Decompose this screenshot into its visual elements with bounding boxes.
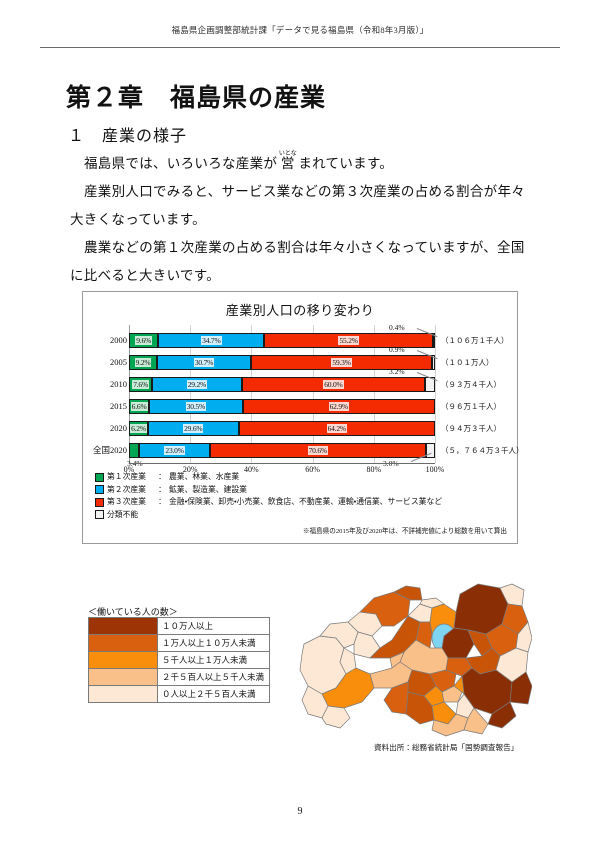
map-legend-label: ０人以上２千５百人未満 bbox=[158, 686, 269, 702]
legend-label: 分類不能 bbox=[107, 509, 155, 522]
legend-description: 鉱業、製造業、建設業 bbox=[169, 484, 247, 497]
chart-value-label: 62.9% bbox=[329, 402, 349, 411]
map-legend-swatch bbox=[89, 635, 158, 651]
map-legend-swatch bbox=[89, 669, 158, 685]
chart-legend-item: 第１次産業：農業、林業、水産業 bbox=[95, 471, 442, 484]
chart-row-total: （１０６万１千人） bbox=[441, 333, 509, 348]
paragraph-1-post: まれています。 bbox=[295, 156, 394, 171]
chart-row-total: （９３万４千人） bbox=[441, 377, 501, 392]
chart-legend-item: 第２次産業：鉱業、製造業、建設業 bbox=[95, 484, 442, 497]
chart-value-label: 64.2% bbox=[327, 424, 347, 433]
legend-label: 第３次産業 bbox=[107, 496, 155, 509]
legend-description: 農業、林業、水産業 bbox=[169, 471, 239, 484]
chart-row-label: 2015 bbox=[83, 399, 127, 414]
chart-bar-row: 6.6%30.5%62.9% bbox=[129, 399, 435, 414]
map-svg bbox=[296, 578, 532, 738]
fukushima-choropleth-map bbox=[296, 578, 532, 738]
chart-row-label: 2000 bbox=[83, 333, 127, 348]
map-legend-label: １万人以上１０万人未満 bbox=[158, 635, 269, 651]
chart-legend: 第１次産業：農業、林業、水産業第２次産業：鉱業、製造業、建設業第３次産業：金融・… bbox=[95, 471, 442, 521]
legend-swatch-icon bbox=[95, 473, 104, 482]
chart-value-label: 7.6% bbox=[132, 380, 149, 389]
map-legend-swatch bbox=[89, 686, 158, 702]
chart-value-label: 34.7% bbox=[201, 336, 221, 345]
chart-row-total: （９４万３千人） bbox=[441, 421, 501, 436]
chart-bar-row: 6.2%29.6%64.2% bbox=[129, 421, 435, 436]
map-legend-swatch bbox=[89, 618, 158, 634]
chart-value-label: 9.2% bbox=[135, 358, 152, 367]
chart-value-label: 9.6% bbox=[135, 336, 152, 345]
paragraph-3: 農業などの第１次産業の占める割合は年々小さくなっていますが、全国に比べると大きい… bbox=[70, 234, 536, 290]
paragraph-1-pre: 福島県では、いろいろな産業が bbox=[84, 156, 281, 171]
map-legend-row: ５千人以上１万人未満 bbox=[89, 652, 269, 669]
map-legend-row: ２千５百人以上５千人未満 bbox=[89, 669, 269, 686]
chart-segment: 29.6% bbox=[148, 421, 239, 436]
chart-plot-wrapper: 20002005201020152020全国2020 （１０６万１千人）（１０１… bbox=[83, 325, 517, 463]
chart-segment: 9.2% bbox=[129, 355, 157, 370]
chart-value-label: 23.0% bbox=[164, 446, 184, 455]
chart-segment: 62.9% bbox=[243, 399, 435, 414]
map-legend-label: １０万人以上 bbox=[158, 618, 269, 634]
legend-separator: ： bbox=[155, 484, 169, 497]
chapter-title: 第２章 福島県の産業 bbox=[66, 78, 326, 114]
chart-legend-item: 分類不能 bbox=[95, 509, 442, 522]
chart-value-label: 29.6% bbox=[183, 424, 203, 433]
ruby-annotation: いとな bbox=[279, 151, 297, 157]
map-legend-row: １０万人以上 bbox=[89, 618, 269, 635]
ruby-itonamu: 営いとな bbox=[281, 156, 295, 171]
legend-swatch-icon bbox=[95, 498, 104, 507]
chart-value-label: 60.0% bbox=[323, 380, 343, 389]
chart-segment: 6.6% bbox=[129, 399, 149, 414]
legend-label: 第２次産業 bbox=[107, 484, 155, 497]
chart-segment: 34.7% bbox=[158, 333, 264, 348]
chart-segment: 70.6% bbox=[210, 443, 426, 458]
document-header: 福島県企画調整部統計課「データで見る福島県（令和8年3月版）」 bbox=[0, 24, 600, 36]
chart-segment bbox=[426, 443, 435, 458]
chart-row-label: 2010 bbox=[83, 377, 127, 392]
map-legend-row: ０人以上２千５百人未満 bbox=[89, 686, 269, 702]
map-legend: １０万人以上１万人以上１０万人未満５千人以上１万人未満２千５百人以上５千人未満０… bbox=[88, 617, 270, 703]
map-legend-label: ２千５百人以上５千人未満 bbox=[158, 669, 269, 685]
chart-value-label: 6.2% bbox=[130, 424, 147, 433]
chart-legend-item: 第３次産業：金融・保険業、卸売・小売業、飲食店、不動産業、運輸・通信業、サービス… bbox=[95, 496, 442, 509]
chart-row-label: 全国2020 bbox=[83, 443, 127, 458]
header-divider bbox=[40, 47, 560, 48]
chart-value-label: 59.3% bbox=[331, 358, 351, 367]
legend-description: 金融・保険業、卸売・小売業、飲食店、不動産業、運輸・通信業、サービス業など bbox=[169, 496, 442, 509]
source-note: 資料出所：総務省統計局「国勢調査報告」 bbox=[374, 742, 518, 753]
gridline bbox=[435, 325, 436, 463]
chart-footnote: ※福島県の2015年及び2020年は、不詳補完値により総数を用いて算出 bbox=[303, 525, 507, 535]
chart-value-label: 70.6% bbox=[308, 446, 328, 455]
chart-value-label: 29.2% bbox=[187, 380, 207, 389]
map-legend-label: ５千人以上１万人未満 bbox=[158, 652, 269, 668]
chart-segment: 30.5% bbox=[149, 399, 242, 414]
chart-row-total: （５，７６４万３千人） bbox=[441, 443, 524, 458]
chart-row-total: （１０１万人） bbox=[441, 355, 494, 370]
chart-segment: 7.6% bbox=[129, 377, 152, 392]
section-title: １ 産業の様子 bbox=[68, 122, 187, 146]
chart-value-label: 30.7% bbox=[194, 358, 214, 367]
industry-population-chart: 産業別人口の移り変わり 20002005201020152020全国2020 （… bbox=[82, 291, 518, 544]
chart-segment: 55.2% bbox=[264, 333, 433, 348]
legend-swatch-icon bbox=[95, 485, 104, 494]
chart-row-total: （９６万１千人） bbox=[441, 399, 501, 414]
map-region bbox=[322, 706, 350, 728]
legend-separator: ： bbox=[155, 471, 169, 484]
chart-callout-label: 0.9% bbox=[389, 345, 405, 354]
chart-segment bbox=[129, 443, 139, 458]
page-number: 9 bbox=[0, 806, 600, 817]
chart-segment: 9.6% bbox=[129, 333, 158, 348]
chart-value-label: 30.5% bbox=[186, 402, 206, 411]
chart-x-axis bbox=[129, 463, 435, 464]
chart-callout-label: 3.2% bbox=[389, 367, 405, 376]
chart-row-label: 2020 bbox=[83, 421, 127, 436]
chart-segment: 23.0% bbox=[139, 443, 209, 458]
paragraph-1: 福島県では、いろいろな産業が 営いとな まれています。 bbox=[70, 150, 536, 178]
chart-value-label: 55.2% bbox=[338, 336, 358, 345]
chart-callout-label: 0.4% bbox=[389, 323, 405, 332]
chart-segment: 29.2% bbox=[152, 377, 241, 392]
paragraph-2: 産業別人口でみると、サービス業などの第３次産業の占める割合が年々大きくなっていま… bbox=[70, 178, 536, 234]
chart-row-label: 2005 bbox=[83, 355, 127, 370]
chart-title: 産業別人口の移り変わり bbox=[83, 300, 517, 319]
chart-segment: 64.2% bbox=[239, 421, 435, 436]
legend-swatch-icon bbox=[95, 510, 104, 519]
chart-bar-row: 7.6%29.2%60.0% bbox=[129, 377, 435, 392]
legend-label: 第１次産業 bbox=[107, 471, 155, 484]
chart-value-label: 6.6% bbox=[131, 402, 148, 411]
legend-separator: ： bbox=[155, 496, 169, 509]
chart-segment: 59.3% bbox=[251, 355, 432, 370]
chart-segment: 30.7% bbox=[157, 355, 251, 370]
chart-segment: 6.2% bbox=[129, 421, 148, 436]
map-legend-swatch bbox=[89, 652, 158, 668]
chart-segment: 60.0% bbox=[242, 377, 426, 392]
document-page: 福島県企画調整部統計課「データで見る福島県（令和8年3月版）」 第２章 福島県の… bbox=[0, 0, 600, 848]
map-legend-row: １万人以上１０万人未満 bbox=[89, 635, 269, 652]
body-text: 福島県では、いろいろな産業が 営いとな まれています。 産業別人口でみると、サー… bbox=[70, 150, 536, 290]
chart-bar-row: 23.0%70.6% bbox=[129, 443, 435, 458]
